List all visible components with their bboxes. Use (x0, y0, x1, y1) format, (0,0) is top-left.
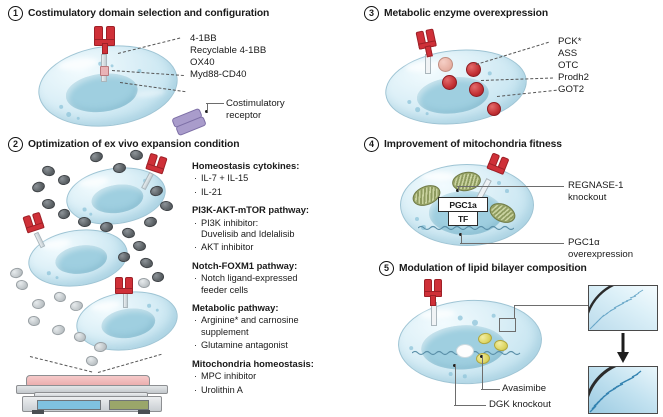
vesicle (147, 304, 151, 308)
group-4-item-0: ·MPC inhibitor (192, 371, 342, 382)
bullet-dot: · (194, 340, 197, 351)
panel-5-heading: 5 Modulation of lipid bilayer compositio… (379, 261, 587, 276)
granule (41, 198, 55, 210)
panel-3-callout-1: ASS (558, 48, 577, 60)
bullet-dot: · (194, 242, 197, 253)
group-1-item-1: ·AKT inhibitor (192, 242, 342, 253)
rocker-foot (138, 410, 150, 414)
group-3-title: Metabolic pathway: (192, 302, 342, 313)
bilayer-graphic-before (589, 286, 657, 330)
vesicle (407, 100, 411, 104)
panel-2-funnel-right (98, 354, 162, 373)
panel-4-number: 4 (364, 137, 379, 152)
bullet-dot: · (194, 273, 197, 296)
panel-3-heading: 3 Metabolic enzyme overexpression (364, 6, 548, 21)
cell-highlight (58, 56, 99, 72)
panel-4-annotation-1-line1: REGNASE-1 (568, 180, 623, 192)
group-4-item-1: ·Urolithin A (192, 385, 342, 396)
panel-3-title: Metabolic enzyme overexpression (384, 8, 548, 19)
panel-2-car-2 (21, 211, 46, 236)
group-0-item-1: ·IL-21 (192, 187, 342, 198)
panel-1-car-receptor (92, 26, 116, 52)
panel-3-callout-3: Prodh2 (558, 72, 589, 84)
panel-3-callout-2: OTC (558, 60, 578, 72)
bullet-dot: · (194, 173, 197, 184)
bullet-dot: · (194, 315, 197, 338)
vesicle (66, 112, 72, 118)
vesicle (497, 181, 501, 185)
item-text: IL-21 (201, 187, 222, 198)
panel-2-bioreactor (12, 374, 170, 414)
figure-canvas: 1 Costimulatory domain selection and con… (0, 0, 663, 417)
panel-4-annotation-2-line2: overexpression (568, 249, 633, 261)
vesicle (110, 64, 113, 67)
vesicle (425, 112, 428, 115)
granule (9, 267, 24, 280)
granule (139, 257, 154, 270)
panel-4-title: Improvement of mitochondria fitness (384, 139, 562, 150)
panel-1-callout-3: Myd88-CD40 (190, 69, 247, 81)
display-blue (37, 400, 101, 410)
panel-1-annotation-line1: Costimulatory (226, 98, 285, 110)
item-text: Arginine* and carnosine supplement (201, 315, 299, 338)
panel-2-lists: Homeostasis cytokines: ·IL-7 + IL-15 ·IL… (192, 160, 342, 396)
vesicle (59, 105, 63, 109)
panel-5-car-receptor (422, 279, 444, 305)
panel-1-title: Costimulatory domain selection and confi… (28, 8, 269, 19)
dna-squiggle (418, 225, 514, 231)
granule (27, 315, 40, 326)
granule (132, 240, 146, 252)
granule (151, 271, 164, 282)
granule (31, 180, 47, 194)
vesicle (82, 207, 86, 211)
vesicle (55, 276, 58, 279)
panel-3-number: 3 (364, 6, 379, 21)
panel-1-number: 1 (8, 6, 23, 21)
group-2-item-0: ·Notch ligand-expressed feeder cells (192, 273, 342, 296)
granule (78, 216, 92, 227)
panel-4-anno-stem-2 (461, 233, 462, 243)
panel-3-cell (382, 43, 531, 131)
granule (117, 251, 130, 262)
granule (57, 174, 70, 185)
panel-2-title: Optimization of ex vivo expansion condit… (28, 139, 239, 150)
enzyme-vesicle (466, 62, 481, 77)
item-text: MPC inhibitor (201, 371, 256, 382)
nucleus (54, 242, 109, 277)
granule (51, 324, 66, 336)
panel-5-anno-line-dgk (454, 405, 486, 406)
enzyme-vesicle (442, 75, 457, 90)
panel-1-callout-1: Recyclable 4-1BB (190, 45, 266, 57)
panel-5-cell (396, 296, 544, 387)
group-3-item-0: ·Arginine* and carnosine supplement (192, 315, 342, 338)
panel-5-inset-line (514, 305, 589, 306)
bullet-dot: · (194, 218, 197, 241)
panel-4-annotation-1-line2: knockout (568, 192, 606, 204)
vesicle (492, 314, 496, 318)
bilayer-inset-before (588, 285, 658, 331)
enzyme-vesicle (469, 82, 484, 97)
panel-5-number: 5 (379, 261, 394, 276)
panel-5-anno-line-avasimibe (481, 389, 500, 390)
panel-5-annotation-avasimibe: Avasimibe (502, 383, 546, 395)
group-0-title: Homeostasis cytokines: (192, 160, 342, 171)
vesicle (89, 212, 92, 215)
panel-5-anno-stem-dgk (455, 364, 456, 405)
item-text: IL-7 + IL-15 (201, 173, 248, 184)
granule (159, 200, 174, 212)
panel-1-heading: 1 Costimulatory domain selection and con… (8, 6, 269, 21)
panel-1-costim-domain-block (100, 66, 109, 76)
group-4-title: Mitochondria homeostasis: (192, 358, 342, 369)
panel-1-callout-2: OX40 (190, 57, 215, 69)
panel-3-callout-4: GOT2 (558, 84, 584, 96)
panel-5-anno-stem-avasimibe (482, 355, 483, 389)
bullet-dot: · (194, 371, 197, 382)
vesicle (77, 117, 80, 120)
granule (57, 208, 71, 220)
panel-2-funnel-left (30, 356, 92, 372)
vesicle (449, 372, 453, 376)
vesicle (463, 374, 467, 378)
panel-1-callout-0: 4-1BB (190, 33, 217, 45)
granule (32, 298, 46, 309)
vesicle (458, 315, 463, 320)
nuclear-body (456, 344, 474, 358)
panel-2-car-3 (114, 277, 134, 297)
tf-box: TF (448, 211, 478, 226)
display-olive (109, 400, 149, 410)
granule (41, 164, 56, 177)
membrane-zoom-box (499, 318, 516, 332)
panel-1-annotation-line2: receptor (226, 110, 261, 122)
panel-5-inset-stem (514, 305, 515, 319)
panel-1-anno-stem (207, 103, 208, 113)
panel-3-callout-0: PCK* (558, 36, 581, 48)
panel-4-anno-line-1 (457, 186, 564, 187)
cell-highlight (421, 172, 455, 181)
granule (121, 227, 136, 240)
granule (138, 277, 151, 288)
vesicle (47, 271, 51, 275)
panel-1-cell (34, 38, 183, 134)
group-0-item-0: ·IL-7 + IL-15 (192, 173, 342, 184)
transition-arrow (615, 333, 631, 368)
vesicle (415, 107, 420, 112)
enzyme-vesicle-pale (438, 57, 453, 72)
panel-2-number: 2 (8, 137, 23, 152)
bilayer-inset-after (588, 366, 658, 414)
bilayer-graphic-after (589, 367, 657, 413)
nucleus (90, 181, 145, 216)
enzyme-vesicle (487, 102, 501, 116)
panel-4-heading: 4 Improvement of mitochondria fitness (364, 137, 562, 152)
vesicle (488, 71, 492, 75)
granule (143, 216, 158, 228)
nucleus (100, 305, 158, 341)
panel-4-anno-line-2 (460, 243, 564, 244)
cell-highlight (419, 309, 455, 320)
panel-3-car-receptor (414, 28, 441, 58)
panel-2-heading: 2 Optimization of ex vivo expansion cond… (8, 137, 239, 152)
cell-highlight (78, 176, 109, 188)
vesicle (156, 308, 159, 311)
granule (89, 150, 104, 164)
panel-1-anno-line (206, 103, 224, 104)
bullet-dot: · (194, 385, 197, 396)
item-text: PI3K inhibitor: Duvelisib and Idelalisib (201, 218, 294, 241)
item-text: Notch ligand-expressed feeder cells (201, 273, 298, 296)
item-text: Urolithin A (201, 385, 243, 396)
group-3-item-1: ·Glutamine antagonist (192, 340, 342, 351)
vesicle (415, 217, 419, 221)
panel-5-title: Modulation of lipid bilayer composition (399, 263, 587, 274)
cell-highlight (405, 59, 442, 73)
item-text: Glutamine antagonist (201, 340, 288, 351)
group-1-item-0: ·PI3K inhibitor: Duvelisib and Idelalisi… (192, 218, 342, 241)
vesicle (505, 189, 509, 193)
panel-5-annotation-dgk: DGK knockout (489, 399, 551, 411)
item-text: AKT inhibitor (201, 242, 253, 253)
granule (93, 341, 107, 353)
group-2-title: Notch-FOXM1 pathway: (192, 260, 342, 271)
pgc1a-box: PGC1a (438, 197, 488, 212)
granule (53, 291, 67, 303)
rocker-foot (32, 410, 44, 414)
vesicle (472, 320, 478, 326)
granule (15, 279, 28, 290)
group-1-title: PI3K-AKT-mTOR pathway: (192, 204, 342, 215)
panel-4-annotation-2-line1: PGC1α (568, 237, 600, 249)
granule (100, 221, 114, 232)
bullet-dot: · (194, 187, 197, 198)
granule (85, 355, 99, 367)
cell-highlight (135, 88, 166, 99)
